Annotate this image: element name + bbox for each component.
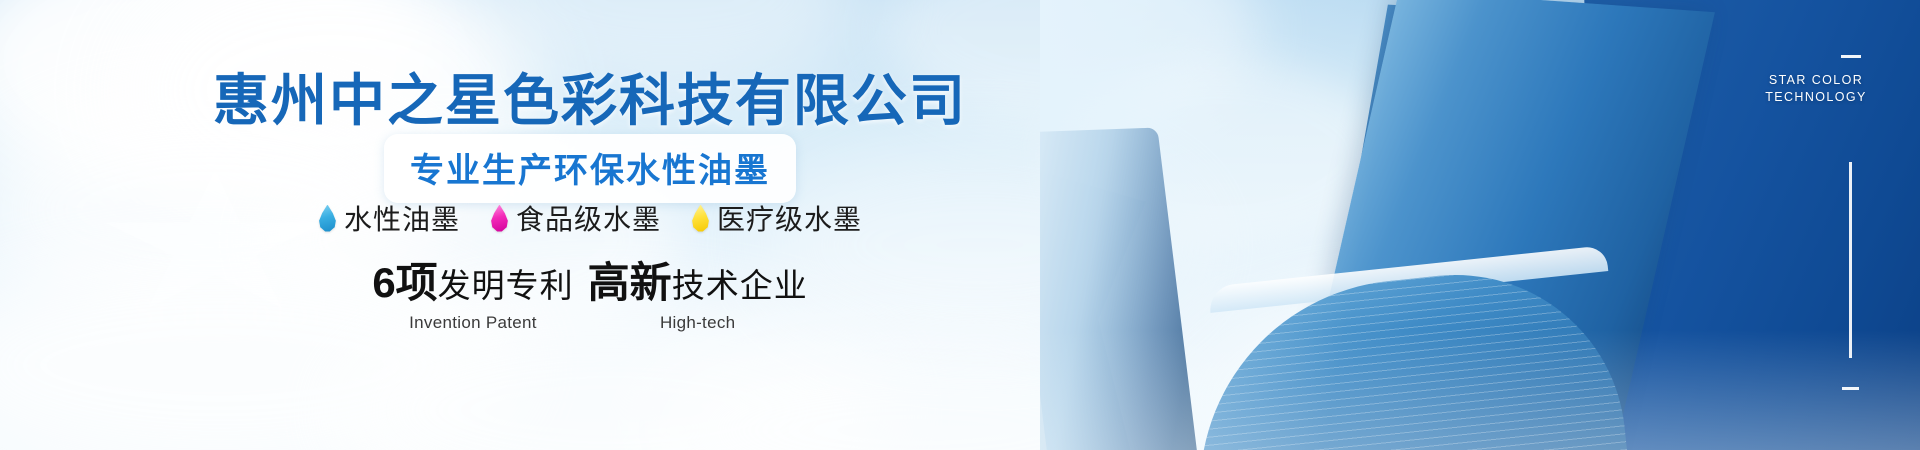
credential-badge-patent: 6项发明专利 Invention Patent — [372, 262, 573, 333]
credential-badge-list: 6项发明专利 Invention Patent 高新技术企业 High-tech — [0, 262, 1180, 333]
badge-strong-text: 6项 — [372, 259, 437, 306]
corner-mark-line2: TECHNOLOGY — [1750, 89, 1882, 106]
corner-dash-top — [1841, 55, 1861, 58]
feature-item: 水性油墨 — [318, 198, 460, 238]
star-color-technology-mark: STAR COLOR TECHNOLOGY — [1750, 72, 1882, 106]
badge-english-text: High-tech — [588, 313, 808, 333]
feature-label: 食品级水墨 — [516, 198, 661, 238]
corner-vertical-rule — [1849, 162, 1852, 358]
banner-text-content: 惠州中之星色彩科技有限公司 专业生产环保水性油墨 水性油墨 食品级水墨 医疗级水… — [0, 0, 1180, 450]
feature-label: 医疗级水墨 — [717, 198, 862, 238]
subtitle-row: 专业生产环保水性油墨 — [0, 134, 1180, 203]
company-name-heading: 惠州中之星色彩科技有限公司 — [0, 56, 1180, 137]
product-feature-list: 水性油墨 食品级水墨 医疗级水墨 — [0, 198, 1180, 238]
corner-mark-line1: STAR COLOR — [1750, 72, 1882, 89]
badge-english-text: Invention Patent — [372, 313, 573, 333]
badge-light-text: 发明专利 — [438, 267, 574, 304]
badge-light-text: 技术企业 — [672, 267, 808, 304]
subtitle-pill: 专业生产环保水性油墨 — [384, 134, 796, 203]
feature-item: 食品级水墨 — [490, 198, 661, 238]
magenta-ink-droplet-icon — [490, 205, 509, 232]
company-hero-banner: Star Color STAR COLOR TECHNOLOGY 惠州中之星色彩… — [0, 0, 1920, 450]
badge-main-text: 6项发明专利 — [372, 262, 573, 304]
feature-label: 水性油墨 — [344, 198, 460, 238]
corner-dash-bottom — [1842, 387, 1859, 390]
credential-badge-hightech: 高新技术企业 High-tech — [588, 262, 808, 333]
feature-item: 医疗级水墨 — [691, 198, 862, 238]
blue-ink-droplet-icon — [318, 205, 337, 232]
badge-main-text: 高新技术企业 — [588, 262, 808, 304]
yellow-ink-droplet-icon — [691, 205, 710, 232]
badge-strong-text: 高新 — [588, 259, 672, 306]
